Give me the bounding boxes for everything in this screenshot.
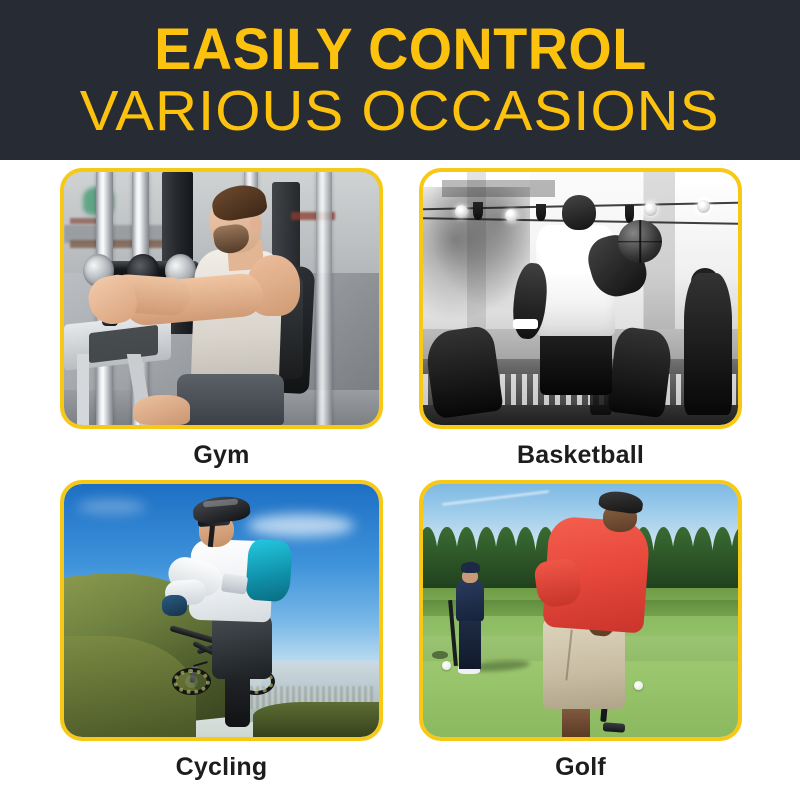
cycling-bike-handlebars bbox=[193, 661, 208, 667]
occasion-label-gym: Gym bbox=[193, 440, 249, 470]
golf-tree bbox=[653, 527, 674, 595]
cycling-photo bbox=[64, 484, 379, 737]
cycling-foreground-bush bbox=[253, 702, 379, 737]
basketball-bystander-3 bbox=[684, 273, 731, 415]
gym-athlete-ear bbox=[250, 215, 263, 233]
golf-tree bbox=[672, 527, 693, 595]
basketball-photo bbox=[423, 172, 738, 425]
golf-hole bbox=[432, 651, 448, 659]
basketball-bystander-2 bbox=[607, 326, 674, 418]
golf-club-head bbox=[602, 722, 625, 732]
golf-tree bbox=[692, 527, 713, 595]
cycling-cloud-2 bbox=[77, 499, 146, 514]
basketball-player-head bbox=[562, 195, 597, 230]
basketball-lamp-shade-2 bbox=[536, 204, 545, 222]
basketball-player-shorts bbox=[540, 329, 612, 395]
golf-photo bbox=[423, 484, 738, 737]
banner-title-line1: EASILY CONTROL bbox=[154, 21, 646, 79]
occasion-cell-golf: Golf bbox=[419, 480, 742, 782]
occasion-label-basketball: Basketball bbox=[517, 440, 644, 470]
occasion-label-golf: Golf bbox=[555, 752, 606, 782]
basketball-lamp-shade-3 bbox=[625, 205, 634, 223]
basketball-light-bulb-1 bbox=[455, 205, 468, 218]
gym-shelf-lower bbox=[70, 240, 165, 248]
basketball-bystander-1 bbox=[424, 324, 505, 419]
basketball-light-bulb-2 bbox=[505, 209, 518, 222]
gym-bench-leg-1 bbox=[77, 354, 90, 425]
header-banner: EASILY CONTROL VARIOUS OCCASIONS bbox=[0, 0, 800, 160]
occasion-card-gym[interactable] bbox=[60, 168, 383, 429]
occasion-label-cycling: Cycling bbox=[176, 752, 268, 782]
occasion-cell-basketball: Basketball bbox=[419, 168, 742, 470]
gym-athlete-shorts bbox=[177, 374, 284, 425]
basketball-lamp-shade-1 bbox=[473, 202, 482, 220]
cycling-front-tire bbox=[173, 669, 209, 694]
cycling-bike-front-wheel bbox=[172, 668, 210, 695]
cycling-cloud-1 bbox=[247, 514, 354, 537]
golf-background-golfer-shirt bbox=[456, 580, 484, 620]
basketball-court-banner bbox=[442, 180, 555, 198]
gym-photo bbox=[64, 172, 379, 425]
golf-tree bbox=[436, 527, 457, 595]
occasion-card-golf[interactable] bbox=[419, 480, 742, 741]
cycling-chest-pocket bbox=[220, 573, 247, 594]
occasion-cell-cycling: Cycling bbox=[60, 480, 383, 782]
basketball-player-wristband bbox=[513, 319, 538, 329]
cycling-rider-glove bbox=[162, 595, 187, 615]
occasion-card-cycling[interactable] bbox=[60, 480, 383, 741]
occasion-cell-gym: Gym bbox=[60, 168, 383, 470]
product-feature-page: EASILY CONTROL VARIOUS OCCASIONS bbox=[0, 0, 800, 800]
golf-background-golfer-pants bbox=[459, 618, 481, 669]
golf-tree bbox=[495, 527, 516, 595]
occasions-grid: Gym bbox=[60, 168, 742, 782]
golf-tree bbox=[515, 527, 536, 595]
golf-golfer-pocket bbox=[565, 629, 600, 682]
cycling-backpack bbox=[245, 538, 293, 602]
gym-guide-rail-4 bbox=[316, 172, 332, 425]
cycling-rider-helmet bbox=[192, 494, 251, 524]
occasion-card-basketball[interactable] bbox=[419, 168, 742, 429]
basketball-light-bulb-3 bbox=[644, 202, 657, 215]
gym-athlete-knee bbox=[133, 395, 190, 425]
golf-tree bbox=[731, 527, 738, 595]
golf-tree bbox=[712, 527, 733, 595]
golf-background-golfer-cap bbox=[461, 562, 480, 572]
banner-title-line2: VARIOUS OCCASIONS bbox=[80, 83, 720, 140]
